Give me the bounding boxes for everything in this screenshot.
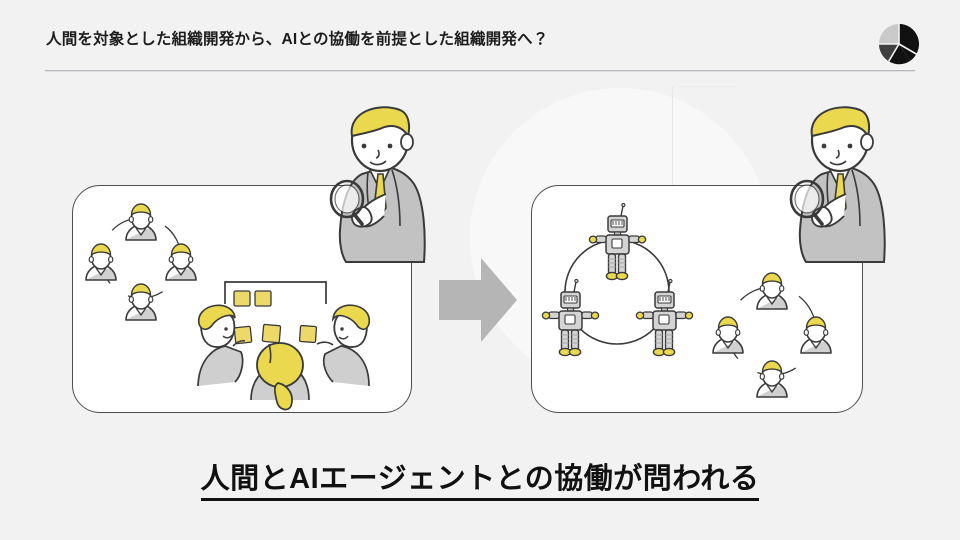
- whiteboard-group: [225, 282, 326, 306]
- slide-canvas: 人間を対象とした組織開発から、AIとの協働を前提とした組織開発へ？: [0, 0, 960, 540]
- logo-icon: [876, 21, 922, 67]
- header-divider: [45, 70, 915, 72]
- ai-human-org-illustration: [532, 186, 862, 412]
- current-state-illustration: [73, 186, 411, 412]
- workshop-people-group: [198, 305, 369, 409]
- background-line-horizontal: [678, 86, 738, 87]
- page-title: 人間を対象とした組織開発から、AIとの協働を前提とした組織開発へ？: [46, 31, 548, 50]
- future-state-card: [531, 185, 863, 413]
- human-network-group: [86, 204, 196, 320]
- conclusion-headline: 人間とAIエージェントとの協働が問われる: [0, 455, 960, 497]
- slide-header: 人間を対象とした組織開発から、AIとの協働を前提とした組織開発へ？: [0, 0, 960, 78]
- human-network-group: [713, 273, 831, 397]
- transition-arrow: [437, 256, 519, 344]
- current-state-card: [72, 185, 412, 413]
- conclusion-headline-text: 人間とAIエージェントとの協働が問われる: [201, 463, 760, 501]
- future-state-illustration: [532, 186, 862, 412]
- human-org-illustration: [73, 186, 411, 412]
- company-logo: [876, 21, 922, 67]
- arrow-right-icon: [437, 256, 519, 344]
- ai-agent-network-group: [542, 203, 692, 355]
